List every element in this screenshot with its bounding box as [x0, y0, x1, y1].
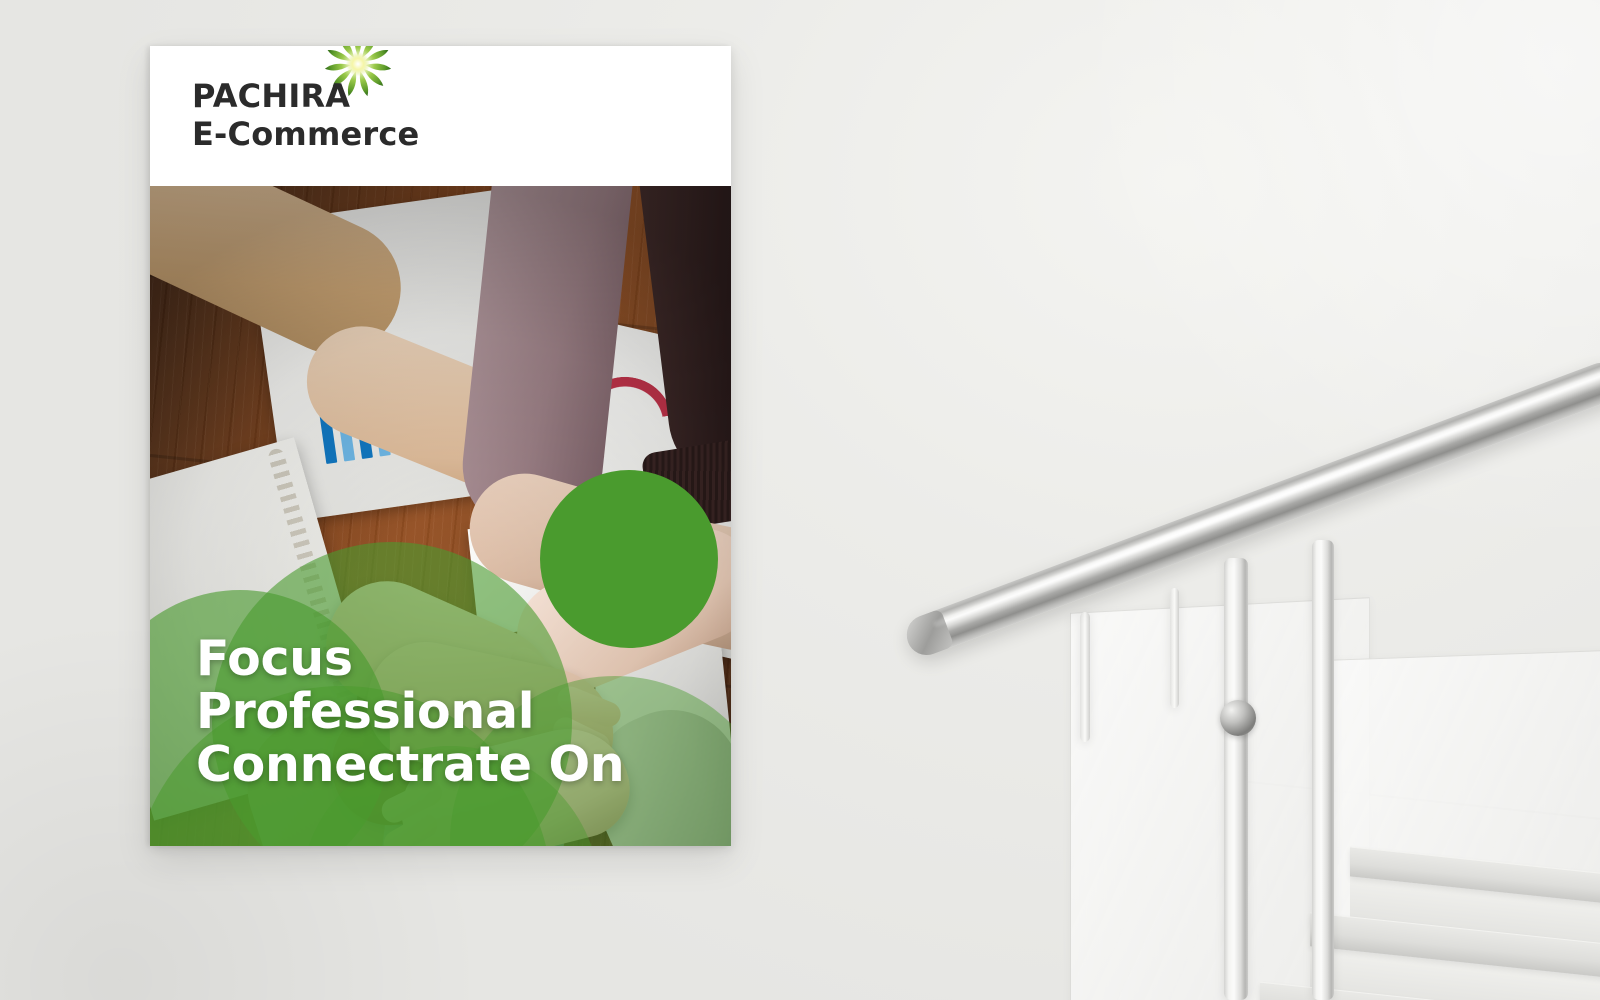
balustrade-rod — [1080, 612, 1090, 742]
balustrade-post — [1312, 540, 1334, 1000]
poster-photo-teamwork: Focus Professional Connectrate On — [150, 186, 731, 846]
poster-mockup[interactable]: PACHIRA E-Commerce — [150, 46, 731, 846]
headline-line-3: Connectrate On — [196, 739, 624, 792]
balustrade-rod — [1170, 588, 1179, 708]
brand-lockup: PACHIRA E-Commerce — [192, 78, 419, 154]
handrail-end-cap — [901, 609, 954, 661]
scene-photograph: PACHIRA E-Commerce — [0, 0, 1600, 1000]
handrail-ball-fitting — [1220, 700, 1256, 736]
brand-wordmark: PACHIRA E-Commerce — [192, 78, 419, 154]
headline-line-1: Focus — [196, 633, 624, 686]
headline-line-2: Professional — [196, 686, 624, 739]
staircase-railing — [880, 300, 1600, 1000]
brand-circle-solid — [540, 470, 718, 648]
poster-headline: Focus Professional Connectrate On — [196, 633, 624, 792]
brand-name-line2: E-Commerce — [192, 116, 419, 154]
brand-name-line1: PACHIRA — [192, 78, 419, 116]
balustrade-post — [1224, 558, 1248, 1000]
poster-header-band: PACHIRA E-Commerce — [150, 46, 731, 186]
